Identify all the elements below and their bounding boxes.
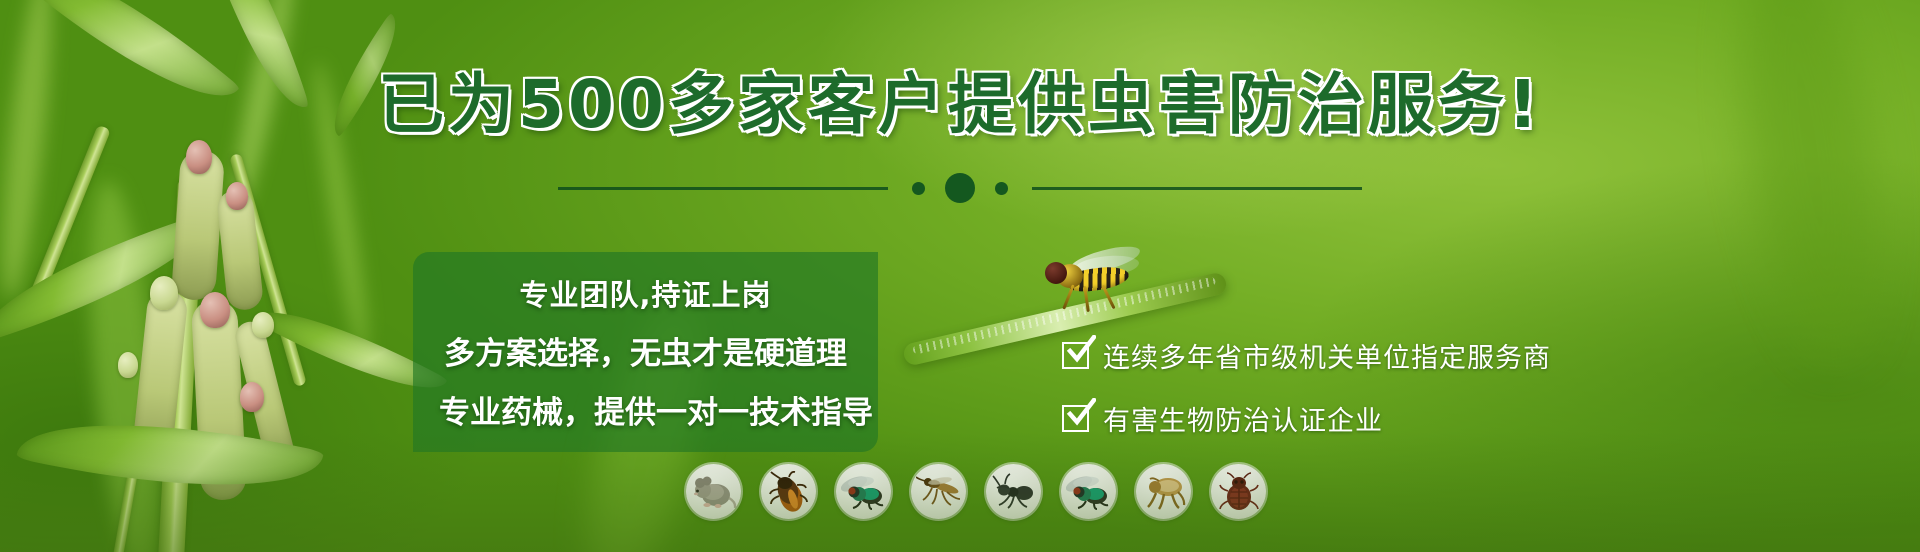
selling-point-line-2: 多方案选择，无虫才是硬道理	[439, 328, 852, 373]
hoverfly-head	[1045, 262, 1067, 284]
divider-dot-large	[945, 173, 975, 203]
credential-label: 连续多年省市级机关单位指定服务商	[1103, 336, 1551, 375]
plant-bud	[118, 352, 138, 378]
divider-dot-small-left	[912, 182, 925, 195]
hoverfly-leg	[1101, 285, 1115, 310]
credential-item: 有害生物防治认证企业	[1062, 399, 1551, 438]
flea-icon[interactable]	[1136, 464, 1191, 519]
cockroach-icon[interactable]	[761, 464, 816, 519]
divider-rule-right	[1032, 187, 1362, 190]
plant-bud	[240, 382, 264, 412]
plant-bud	[186, 140, 212, 174]
ant-icon[interactable]	[986, 464, 1041, 519]
plant-bud	[200, 292, 230, 328]
selling-point-line-1: 专业团队,持证上岗	[439, 272, 852, 314]
pest-type-icon-row	[686, 464, 1266, 519]
banner-headline: 已为500多家客户提供虫害防治服务!	[0, 72, 1920, 138]
credential-item: 连续多年省市级机关单位指定服务商	[1062, 336, 1551, 375]
bedbug-icon[interactable]	[1211, 464, 1266, 519]
mosquito-icon[interactable]	[911, 464, 966, 519]
pest-control-promo-banner: 已为500多家客户提供虫害防治服务! 专业团队,持证上岗 多方案选择，无虫才是硬…	[0, 0, 1920, 552]
plant-bud	[252, 312, 274, 338]
credential-label: 有害生物防治认证企业	[1103, 399, 1383, 438]
banner-headline-text: 已为500多家客户提供虫害防治服务!	[378, 66, 1542, 143]
credentials-checklist: 连续多年省市级机关单位指定服务商 有害生物防治认证企业	[1062, 336, 1551, 438]
checkbox-checked-icon	[1062, 342, 1089, 369]
hoverfly-photo	[1045, 248, 1165, 306]
checkbox-checked-icon	[1062, 405, 1089, 432]
mouse-icon[interactable]	[686, 464, 741, 519]
divider-dots	[888, 173, 1032, 203]
green-fly-icon[interactable]	[1061, 464, 1116, 519]
divider	[0, 174, 1920, 202]
divider-dot-small-right	[995, 182, 1008, 195]
selling-points-panel: 专业团队,持证上岗 多方案选择，无虫才是硬道理 专业药械，提供一对一技术指导	[413, 252, 878, 452]
selling-point-line-3: 专业药械，提供一对一技术指导	[439, 387, 852, 432]
divider-rule-left	[558, 187, 888, 190]
plant-bud	[150, 276, 178, 310]
green-fly-icon[interactable]	[836, 464, 891, 519]
